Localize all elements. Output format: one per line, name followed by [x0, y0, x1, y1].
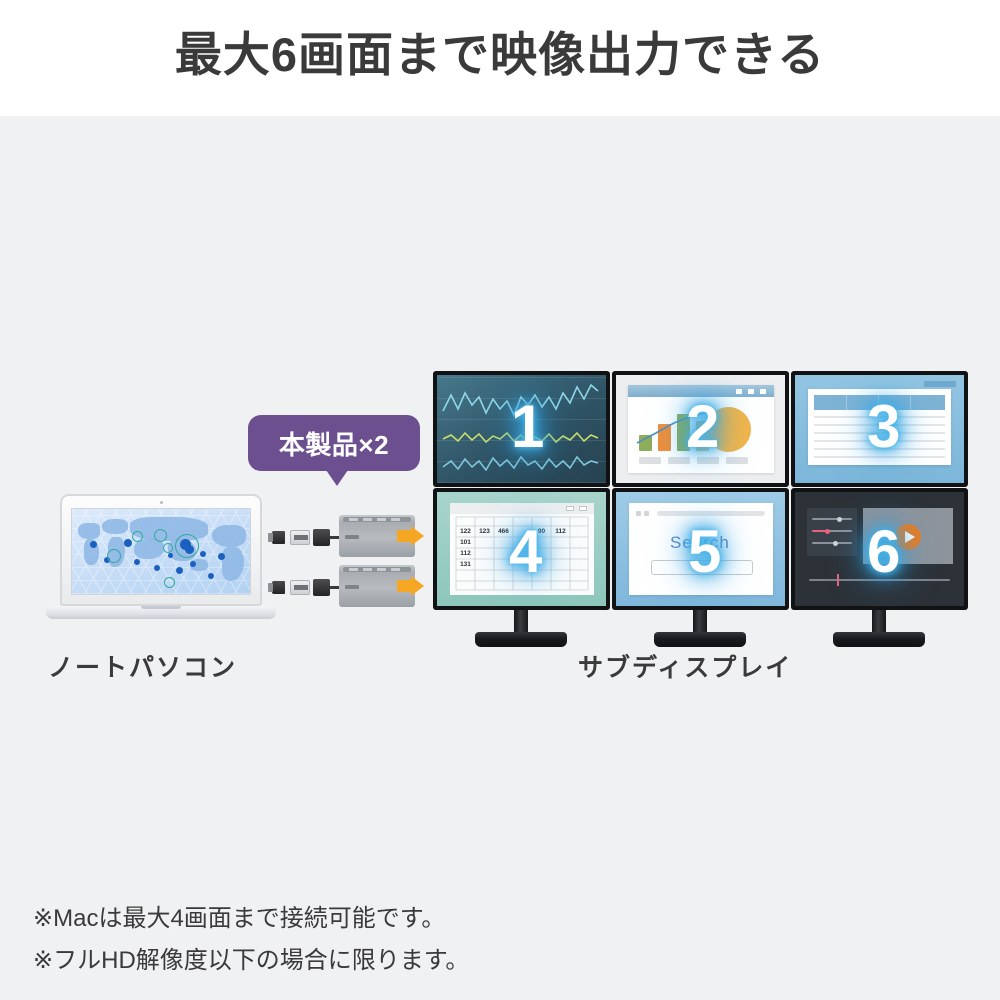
webcam-icon	[160, 501, 163, 504]
hdmi-plug-icon	[272, 581, 285, 594]
legend-bar	[726, 457, 748, 464]
monitor-stand-foot-1	[475, 632, 567, 647]
network-node-ring	[107, 549, 121, 563]
network-node-ring	[154, 529, 167, 542]
bar-chart-window-screen: 2	[616, 375, 785, 483]
monitor-6: 6	[791, 488, 968, 610]
usb-connector-icon	[313, 529, 330, 546]
play-triangle-icon	[905, 531, 915, 543]
nav-back-icon	[636, 511, 641, 516]
network-node-ring	[163, 543, 173, 553]
address-bar[interactable]	[657, 511, 765, 516]
monitor-2: 2	[612, 371, 789, 487]
cell-r4c1: 131	[456, 560, 475, 569]
slider-knob-3[interactable]	[833, 541, 838, 546]
table-header-divider	[846, 395, 847, 410]
network-node-ring	[164, 577, 175, 588]
monitor-3-screen: 3	[795, 375, 964, 483]
monitor-number-4: 4	[509, 522, 542, 582]
product-callout-badge: 本製品×2	[248, 415, 420, 471]
monitor-5: Search 5	[612, 488, 789, 610]
caption-laptop: ノートパソコン	[48, 648, 237, 684]
monitor-4: 122 123 466 90 112 101 112 131 4	[433, 488, 610, 610]
monitor-4-screen: 122 123 466 90 112 101 112 131 4	[437, 492, 606, 606]
monitor-number-3: 3	[867, 397, 900, 457]
monitor-number-1: 1	[511, 397, 544, 457]
network-node	[176, 567, 183, 574]
network-node	[154, 565, 160, 571]
infographic-page: 最大6画面まで映像出力できる	[0, 0, 1000, 1000]
plug-tip	[268, 533, 273, 542]
cell-r3c1: 112	[456, 549, 475, 558]
usb-a-plug-icon	[290, 530, 310, 545]
laptop-screen	[71, 508, 251, 595]
spreadsheet-screen: 122 123 466 90 112 101 112 131 4	[437, 492, 606, 606]
map-landmass	[78, 523, 100, 539]
controls-panel	[807, 508, 857, 556]
slider-knob-2[interactable]	[825, 529, 830, 534]
map-landmass	[212, 525, 246, 547]
table-header-divider	[910, 395, 911, 410]
page-title: 最大6画面まで映像出力できる	[0, 22, 1000, 88]
usb-a-plug-icon	[290, 580, 310, 595]
monitor-1-screen: 1	[437, 375, 606, 483]
slider-track-2[interactable]	[828, 530, 852, 532]
trackpad-notch	[141, 606, 181, 609]
line-chart-dashboard: 1	[437, 375, 606, 483]
monitor-stand-foot-3	[833, 632, 925, 647]
dock-label	[345, 585, 359, 589]
monitor-stand-foot-2	[654, 632, 746, 647]
cell-r1c6: 112	[551, 527, 570, 536]
slider-track-1[interactable]	[812, 518, 852, 520]
monitor-number-5: 5	[688, 522, 721, 582]
footnote-2: ※フルHD解像度以下の場合に限ります。	[33, 940, 469, 982]
hdmi-plug-icon	[272, 531, 285, 544]
product-callout-label: 本製品×2	[248, 415, 420, 471]
laptop-lid	[60, 494, 262, 606]
slider-track-3[interactable]	[812, 542, 852, 544]
legend-bar	[639, 457, 661, 464]
laptop	[46, 494, 276, 634]
taskbar-indicator	[924, 381, 956, 387]
monitor-number-6: 6	[867, 522, 900, 582]
network-node	[90, 541, 97, 548]
plug-tip	[268, 583, 273, 592]
map-landmass	[102, 519, 128, 534]
monitor-5-screen: Search 5	[616, 492, 785, 606]
cell-r1c1: 122	[456, 527, 475, 536]
monitor-1: 1	[433, 371, 610, 487]
video-editor-screen: 6	[795, 492, 964, 606]
callout-pointer	[326, 470, 348, 486]
timeline-playhead[interactable]	[837, 574, 839, 586]
network-node	[218, 553, 225, 560]
network-node	[200, 551, 206, 557]
nav-forward-icon	[644, 511, 649, 516]
laptop-base	[46, 606, 276, 619]
cell-r1c2: 123	[475, 527, 494, 536]
usb-connector-icon	[313, 579, 330, 596]
caption-displays: サブディスプレイ	[578, 648, 792, 684]
slider-knob-1[interactable]	[837, 517, 842, 522]
monitor-3: 3	[791, 371, 968, 487]
network-node	[190, 561, 196, 567]
network-node-ring	[132, 531, 143, 542]
footnote-1: ※Macは最大4画面まで接続可能です。	[33, 898, 469, 940]
map-landmass	[134, 539, 164, 559]
network-node	[124, 539, 132, 547]
footnotes: ※Macは最大4画面まで接続可能です。 ※フルHD解像度以下の場合に限ります。	[33, 898, 469, 982]
network-node	[168, 553, 173, 558]
network-node	[208, 573, 214, 579]
network-node-ring	[175, 534, 199, 558]
monitor-6-screen: 6	[795, 492, 964, 606]
search-page-screen: Search 5	[616, 492, 785, 606]
monitor-number-2: 2	[686, 397, 719, 457]
network-node	[134, 559, 140, 565]
table-document-screen: 3	[795, 375, 964, 483]
cell-r2c1: 101	[456, 538, 475, 547]
dock-label	[345, 535, 359, 539]
monitor-2-screen: 2	[616, 375, 785, 483]
